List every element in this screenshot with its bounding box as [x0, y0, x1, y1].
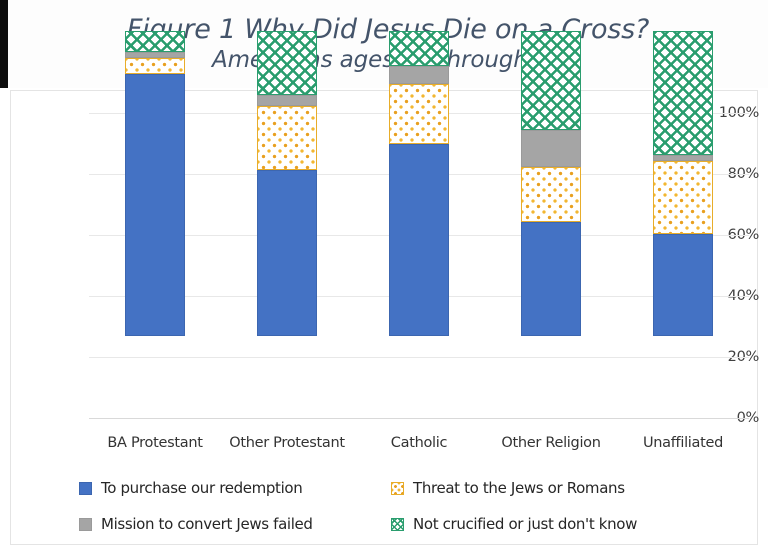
legend-item[interactable]: Not crucified or just don't know — [391, 506, 691, 542]
x-tick-label: Catholic — [353, 435, 485, 451]
legend-label: Mission to convert Jews failed — [101, 515, 313, 533]
bar-segment-orange[interactable] — [653, 161, 713, 234]
legend-item[interactable]: Threat to the Jews or Romans — [391, 470, 691, 506]
stacked-bar[interactable] — [257, 31, 317, 336]
crosshatch-green-swatch — [391, 518, 404, 531]
solid-blue-swatch — [79, 482, 92, 495]
bar-segment-green[interactable] — [653, 31, 713, 155]
stacked-bar[interactable] — [521, 31, 581, 336]
bar-segment-blue[interactable] — [521, 222, 581, 336]
stacked-bar[interactable] — [389, 31, 449, 336]
chart-container: 100%80%60%40%20%0% BA ProtestantOther Pr… — [10, 90, 758, 545]
legend-item[interactable]: To purchase our redemption — [79, 470, 379, 506]
bar-segment-blue[interactable] — [125, 74, 185, 336]
legend-label: Threat to the Jews or Romans — [413, 479, 625, 497]
chart-legend: To purchase our redemptionThreat to the … — [11, 469, 759, 543]
x-tick-label: Unaffiliated — [617, 435, 749, 451]
left-edge-strip — [0, 0, 8, 88]
legend-label: To purchase our redemption — [101, 479, 302, 497]
bars-layer — [89, 91, 749, 431]
bar-segment-gray[interactable] — [389, 66, 449, 84]
x-tick-label: Other Religion — [485, 435, 617, 451]
bar-segment-orange[interactable] — [389, 84, 449, 143]
bar-segment-orange[interactable] — [521, 167, 581, 222]
bar-segment-orange[interactable] — [125, 58, 185, 73]
bar-segment-green[interactable] — [125, 31, 185, 52]
plot-area: 100%80%60%40%20%0% BA ProtestantOther Pr… — [11, 91, 759, 431]
bar-segment-green[interactable] — [389, 31, 449, 66]
bar-segment-blue[interactable] — [653, 234, 713, 336]
x-tick-label: BA Protestant — [89, 435, 221, 451]
stacked-bar[interactable] — [125, 31, 185, 336]
solid-gray-swatch — [79, 518, 92, 531]
bar-segment-orange[interactable] — [257, 106, 317, 170]
legend-label: Not crucified or just don't know — [413, 515, 637, 533]
bar-segment-blue[interactable] — [389, 144, 449, 336]
stacked-bar[interactable] — [653, 31, 713, 336]
bar-segment-gray[interactable] — [257, 95, 317, 106]
bar-segment-green[interactable] — [257, 31, 317, 95]
bar-segment-gray[interactable] — [521, 130, 581, 167]
dotted-orange-swatch — [391, 482, 404, 495]
bar-segment-blue[interactable] — [257, 170, 317, 336]
legend-item[interactable]: Mission to convert Jews failed — [79, 506, 379, 542]
bar-segment-green[interactable] — [521, 31, 581, 130]
x-tick-label: Other Protestant — [221, 435, 353, 451]
